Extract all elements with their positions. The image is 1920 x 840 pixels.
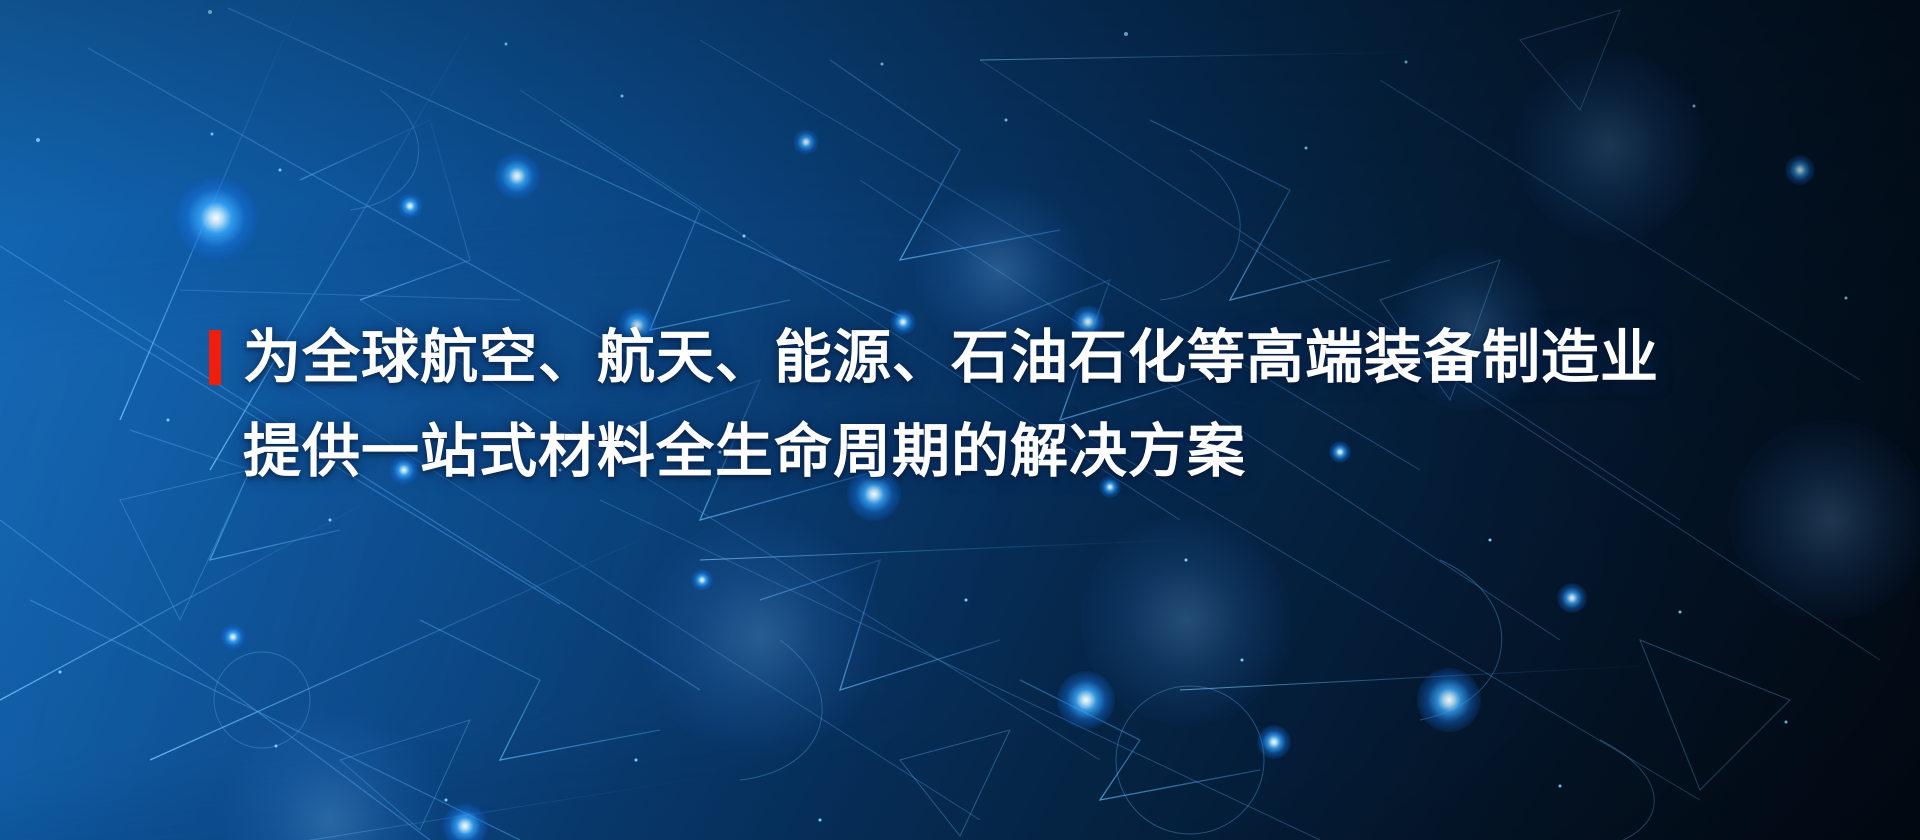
headline-block: 为全球航空、航天、能源、石油石化等高端装备制造业 提供一站式材料全生命周期的解决…: [209, 318, 1529, 492]
headline-text: 为全球航空、航天、能源、石油石化等高端装备制造业 提供一站式材料全生命周期的解决…: [243, 318, 1659, 492]
headline-line-2: 提供一站式材料全生命周期的解决方案: [243, 412, 1659, 492]
hero-banner: 为全球航空、航天、能源、石油石化等高端装备制造业 提供一站式材料全生命周期的解决…: [0, 0, 1920, 840]
red-accent-bar: [209, 330, 221, 385]
headline-line-1: 为全球航空、航天、能源、石油石化等高端装备制造业: [243, 318, 1659, 398]
